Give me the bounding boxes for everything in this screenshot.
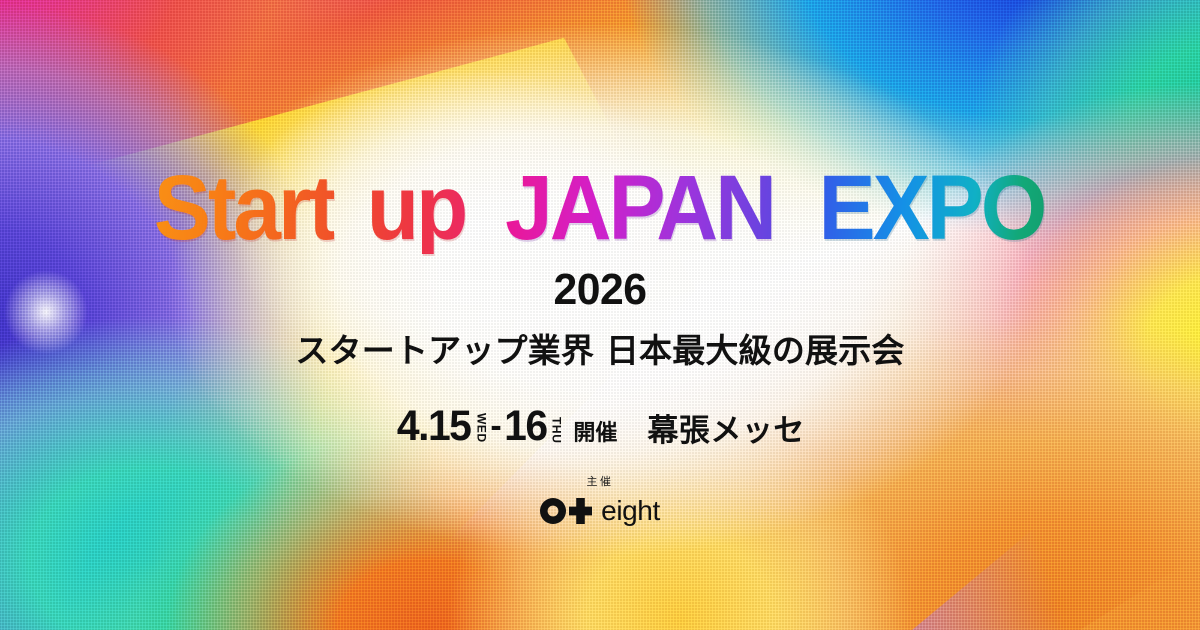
date-end-dow: THU: [550, 417, 562, 443]
title-word-start: Start: [154, 162, 334, 254]
date-start-day: 4.15: [397, 405, 470, 448]
eight-logo-lockup[interactable]: eight: [540, 497, 660, 525]
title-word-up: up: [367, 162, 466, 254]
date-separator: -: [490, 409, 501, 443]
event-tagline: スタートアップ業界 日本最大級の展示会: [295, 334, 904, 367]
title-word-expo: EXPO: [818, 162, 1044, 254]
organiser-block: 主催 eight: [540, 476, 660, 525]
event-year: 2026: [553, 268, 646, 312]
organiser-label: 主催: [587, 476, 614, 487]
title-word-japan: JAPAN: [505, 162, 774, 254]
eight-logo-text: eight: [601, 497, 660, 525]
date-held-label: 開催: [573, 423, 617, 445]
event-venue: 幕張メッセ: [647, 416, 805, 447]
date-start-dow: WED: [475, 413, 487, 443]
poster-content: Start up JAPAN EXPO 2026 スタートアップ業界 日本最大級…: [0, 0, 1200, 630]
event-logotype: Start up JAPAN EXPO: [147, 162, 1053, 254]
event-date-venue-line: 4.15 WED - 16 THU 開催 幕張メッセ: [395, 405, 805, 448]
date-end-day: 16: [504, 405, 546, 448]
poster-canvas: Start up JAPAN EXPO 2026 スタートアップ業界 日本最大級…: [0, 0, 1200, 630]
eight-logo-mark: [540, 498, 592, 524]
